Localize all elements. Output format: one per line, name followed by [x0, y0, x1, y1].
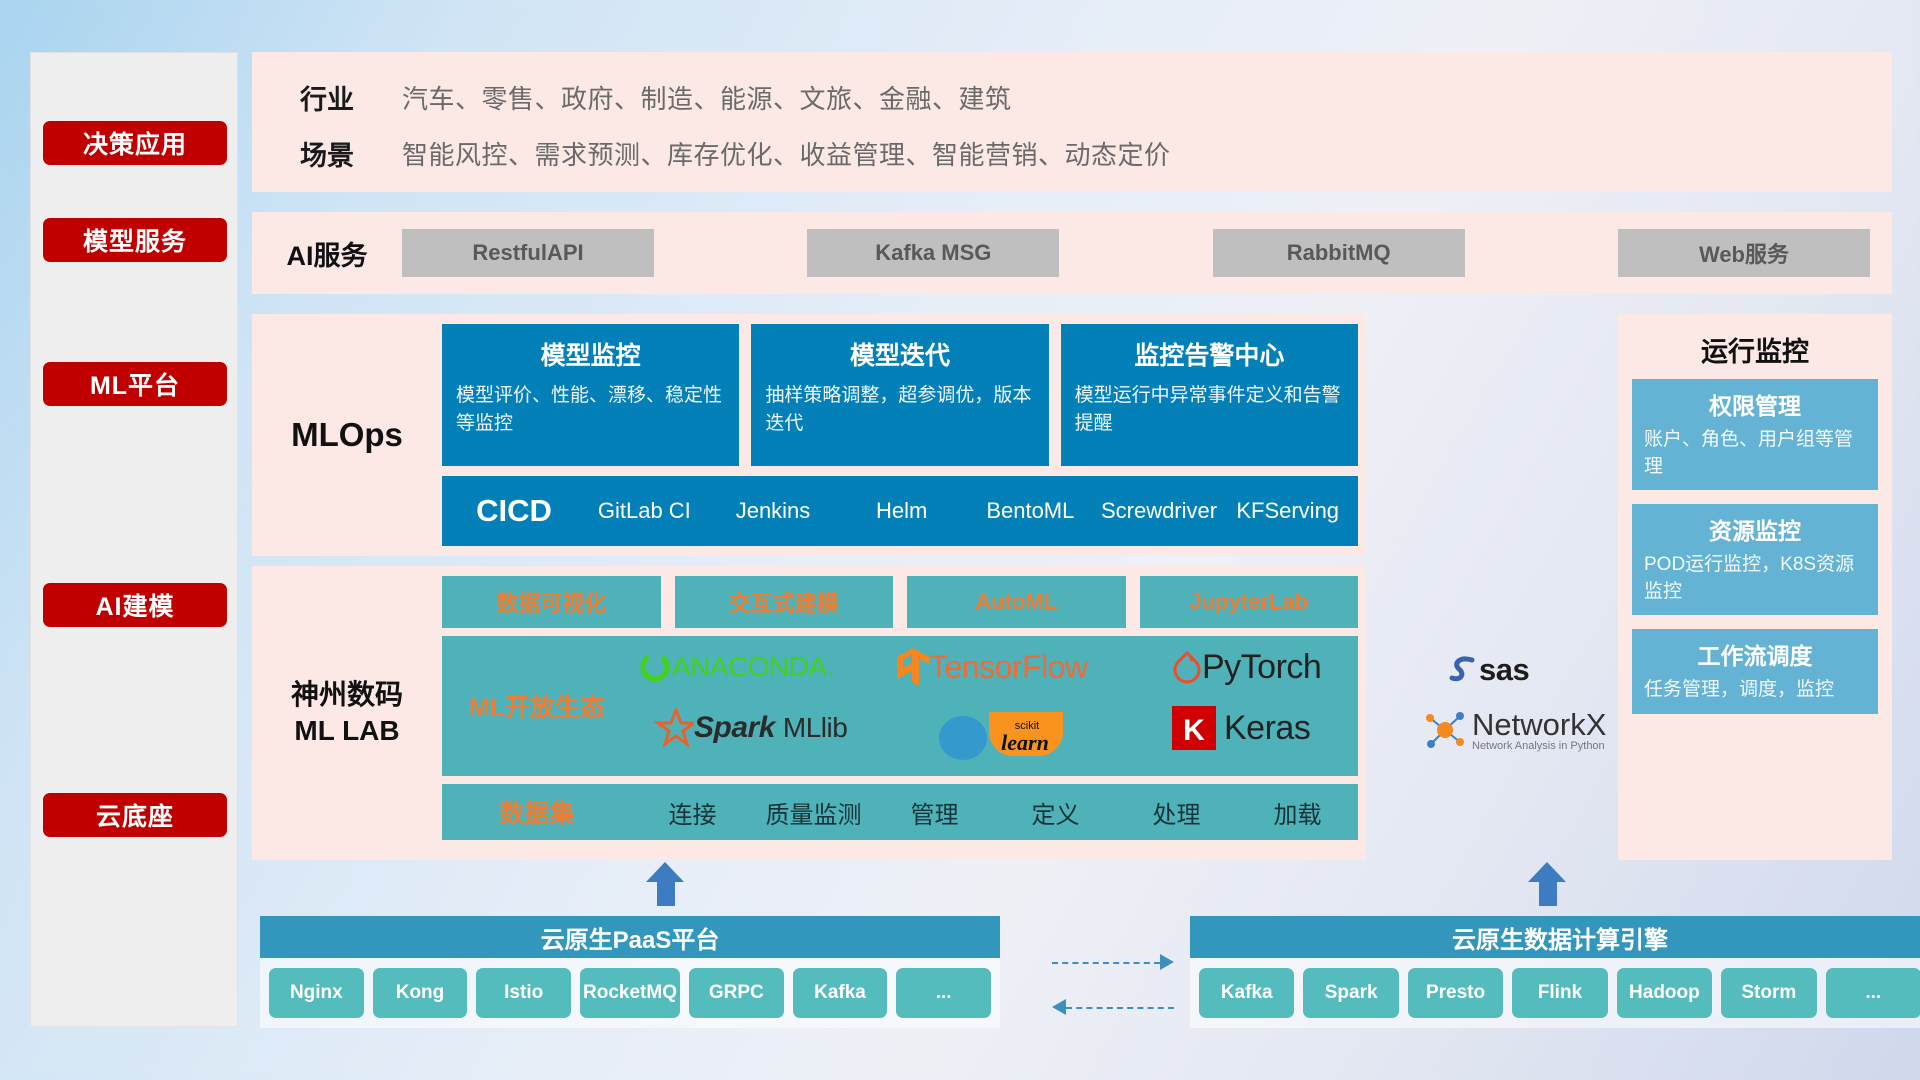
- tool-chip-interactive-modeling[interactable]: 交互式建模: [675, 576, 894, 628]
- ai-service-band: AI服务 RestfulAPI Kafka MSG RabbitMQ Web服务: [252, 212, 1892, 294]
- monitor-card-permissions[interactable]: 权限管理 账户、角色、用户组等管理: [1632, 379, 1878, 490]
- dataset-row: 数据集 连接 质量监测 管理 定义 处理 加载: [442, 784, 1358, 840]
- networkx-logo-tagline: Network Analysis in Python: [1472, 740, 1606, 752]
- anaconda-icon: [638, 650, 672, 684]
- card-desc: 模型评价、性能、漂移、稳定性等监控: [456, 382, 725, 437]
- keras-logo-text: Keras: [1224, 709, 1310, 748]
- rail-label: 决策应用: [83, 125, 187, 161]
- scikit-learn-icon: scikit learn: [937, 708, 1067, 760]
- cloud-chip-istio[interactable]: Istio: [476, 968, 571, 1018]
- ai-service-chip-restfulapi[interactable]: RestfulAPI: [402, 229, 654, 277]
- cloud-chip-nginx[interactable]: Nginx: [269, 968, 364, 1018]
- cicd-item-helm[interactable]: Helm: [837, 499, 966, 522]
- mlops-card-model-iteration[interactable]: 模型迭代 抽样策略调整，超参调优，版本迭代: [751, 324, 1048, 466]
- mllib-logo-text: MLlib: [783, 712, 847, 744]
- rail-item-ai-modeling[interactable]: AI建模: [43, 583, 227, 627]
- cloud-paas-title: 云原生PaaS平台: [260, 916, 1000, 958]
- cicd-item-bentoml[interactable]: BentoML: [966, 499, 1095, 522]
- ai-service-chip-kafka-msg[interactable]: Kafka MSG: [807, 229, 1059, 277]
- ai-service-chip-web-service[interactable]: Web服务: [1618, 229, 1870, 277]
- card-desc: 账户、角色、用户组等管理: [1644, 427, 1866, 480]
- layer-rail: 决策应用 模型服务 ML平台 AI建模 云底座: [30, 52, 238, 1027]
- tool-chip-data-visualization[interactable]: 数据可视化: [442, 576, 661, 628]
- cloud-chip-kafka[interactable]: Kafka: [793, 968, 888, 1018]
- card-title: 资源监控: [1644, 512, 1866, 546]
- dataset-item-load[interactable]: 加载: [1237, 795, 1358, 830]
- ml-ecosystem-row: ML开放生态 ANACONDA. TensorFlow: [442, 636, 1358, 776]
- data-chip-hadoop[interactable]: Hadoop: [1617, 968, 1712, 1018]
- tool-chip-automl[interactable]: AutoML: [907, 576, 1126, 628]
- ml-ecosystem-title: ML开放生态: [442, 688, 632, 724]
- cloud-data-engine-title: 云原生数据计算引擎: [1190, 916, 1920, 958]
- tensorflow-icon: [897, 648, 929, 686]
- industry-row: 行业 汽车、零售、政府、制造、能源、文旅、金融、建筑: [252, 78, 1892, 117]
- card-title: 权限管理: [1644, 387, 1866, 421]
- ai-service-items: RestfulAPI Kafka MSG RabbitMQ Web服务: [402, 229, 1892, 277]
- svg-text:learn: learn: [1001, 730, 1049, 755]
- ml-lab-label: 神州数码 ML LAB: [252, 566, 442, 860]
- dataset-item-process[interactable]: 处理: [1116, 795, 1237, 830]
- cicd-item-kfserving[interactable]: KFServing: [1223, 499, 1352, 522]
- cloud-paas-block: 云原生PaaS平台 Nginx Kong Istio RocketMQ GRPC…: [260, 916, 1000, 1028]
- data-chip-more[interactable]: ...: [1826, 968, 1920, 1018]
- cicd-bar: CICD GitLab CI Jenkins Helm BentoML Scre…: [442, 476, 1358, 546]
- networkx-logo: NetworkX Network Analysis in Python: [1422, 708, 1606, 752]
- svg-text:K: K: [1183, 714, 1205, 747]
- industry-label: 行业: [252, 78, 402, 117]
- keras-logo: K Keras: [1172, 706, 1310, 750]
- networkx-icon: [1422, 708, 1468, 752]
- dataset-title: 数据集: [442, 794, 632, 830]
- scikit-learn-logo: scikit learn: [937, 708, 1067, 760]
- sas-logo: sas: [1447, 652, 1529, 688]
- ml-lab-label-line1: 神州数码: [291, 677, 403, 713]
- rail-label: 云底座: [96, 797, 174, 833]
- scenario-values: 智能风控、需求预测、库存优化、收益管理、智能营销、动态定价: [402, 135, 1171, 172]
- cicd-item-gitlab-ci[interactable]: GitLab CI: [580, 499, 709, 522]
- rail-label: ML平台: [90, 366, 180, 402]
- mlops-card-list: 模型监控 模型评价、性能、漂移、稳定性等监控 模型迭代 抽样策略调整，超参调优，…: [442, 324, 1358, 466]
- rail-item-model-service[interactable]: 模型服务: [43, 218, 227, 262]
- ml-ecosystem-logos: ANACONDA. TensorFlow: [632, 636, 1358, 776]
- dataset-item-define[interactable]: 定义: [995, 795, 1116, 830]
- ml-lab-label-line2: ML LAB: [294, 713, 399, 749]
- spark-mllib-logo: Spark MLlib: [650, 708, 847, 748]
- cicd-item-screwdriver[interactable]: Screwdriver: [1095, 499, 1224, 522]
- rail-label: 模型服务: [83, 222, 187, 258]
- rail-label: AI建模: [95, 587, 174, 623]
- pytorch-icon: [1172, 650, 1202, 686]
- ai-service-label: AI服务: [252, 234, 402, 273]
- card-title: 模型监控: [456, 336, 725, 372]
- cloud-data-engine-chips: Kafka Spark Presto Flink Hadoop Storm ..…: [1190, 958, 1920, 1028]
- cloud-paas-chips: Nginx Kong Istio RocketMQ GRPC Kafka ...: [260, 958, 1000, 1028]
- sas-logo-text: sas: [1479, 652, 1529, 688]
- ml-platform-band: MLOps 模型监控 模型评价、性能、漂移、稳定性等监控 模型迭代 抽样策略调整…: [252, 314, 1366, 556]
- card-title: 工作流调度: [1644, 637, 1866, 671]
- cloud-data-engine-block: 云原生数据计算引擎 Kafka Spark Presto Flink Hadoo…: [1190, 916, 1920, 1028]
- tensorflow-logo: TensorFlow: [897, 648, 1088, 686]
- mlops-card-alert-center[interactable]: 监控告警中心 模型运行中异常事件定义和告警提醒: [1061, 324, 1358, 466]
- data-chip-flink[interactable]: Flink: [1512, 968, 1607, 1018]
- data-chip-spark[interactable]: Spark: [1303, 968, 1398, 1018]
- data-chip-kafka[interactable]: Kafka: [1199, 968, 1294, 1018]
- spark-logo-text: Spark: [694, 711, 775, 745]
- card-title: 监控告警中心: [1075, 336, 1344, 372]
- dataset-item-manage[interactable]: 管理: [874, 795, 995, 830]
- decision-applications-band: 行业 汽车、零售、政府、制造、能源、文旅、金融、建筑 场景 智能风控、需求预测、…: [252, 52, 1892, 192]
- anaconda-logo: ANACONDA.: [638, 650, 834, 684]
- data-chip-presto[interactable]: Presto: [1408, 968, 1503, 1018]
- cicd-title: CICD: [448, 493, 580, 529]
- tensorflow-logo-text: TensorFlow: [929, 649, 1088, 686]
- card-desc: POD运行监控，K8S资源监控: [1644, 552, 1866, 605]
- data-chip-storm[interactable]: Storm: [1721, 968, 1816, 1018]
- anaconda-logo-text: ANACONDA.: [672, 651, 834, 683]
- keras-icon: K: [1172, 706, 1216, 750]
- runtime-monitoring-title: 运行监控: [1618, 314, 1892, 379]
- cloud-chip-kong[interactable]: Kong: [373, 968, 468, 1018]
- ai-modeling-band: 神州数码 ML LAB 数据可视化 交互式建模 AutoML JupyterLa…: [252, 566, 1366, 860]
- scenario-label: 场景: [252, 134, 402, 173]
- cloud-chip-rocketmq[interactable]: RocketMQ: [580, 968, 680, 1018]
- cloud-chip-grpc[interactable]: GRPC: [689, 968, 784, 1018]
- card-title: 模型迭代: [765, 336, 1034, 372]
- rail-item-ml-platform[interactable]: ML平台: [43, 362, 227, 406]
- sas-icon: [1447, 654, 1479, 686]
- dataset-item-connect[interactable]: 连接: [632, 795, 753, 830]
- pytorch-logo: PyTorch: [1172, 648, 1321, 687]
- card-desc: 抽样策略调整，超参调优，版本迭代: [765, 382, 1034, 437]
- pytorch-logo-text: PyTorch: [1202, 648, 1321, 687]
- dataset-item-quality[interactable]: 质量监测: [753, 795, 874, 830]
- cicd-item-jenkins[interactable]: Jenkins: [709, 499, 838, 522]
- mlops-label: MLOps: [252, 314, 442, 556]
- networkx-logo-text: NetworkX: [1472, 709, 1606, 740]
- mlops-card-model-monitoring[interactable]: 模型监控 模型评价、性能、漂移、稳定性等监控: [442, 324, 739, 466]
- scenario-row: 场景 智能风控、需求预测、库存优化、收益管理、智能营销、动态定价: [252, 134, 1892, 173]
- monitor-card-resources[interactable]: 资源监控 POD运行监控，K8S资源监控: [1632, 504, 1878, 615]
- monitor-card-workflow[interactable]: 工作流调度 任务管理，调度，监控: [1632, 629, 1878, 714]
- tool-chip-jupyterlab[interactable]: JupyterLab: [1140, 576, 1359, 628]
- industry-values: 汽车、零售、政府、制造、能源、文旅、金融、建筑: [402, 79, 1012, 116]
- rail-item-cloud-base[interactable]: 云底座: [43, 793, 227, 837]
- cloud-chip-more[interactable]: ...: [896, 968, 991, 1018]
- spark-star-icon: [650, 708, 694, 748]
- runtime-monitoring-band: 运行监控 权限管理 账户、角色、用户组等管理 资源监控 POD运行监控，K8S资…: [1618, 314, 1892, 860]
- rail-item-decision-apps[interactable]: 决策应用: [43, 121, 227, 165]
- ml-lab-tools: 数据可视化 交互式建模 AutoML JupyterLab: [442, 576, 1358, 628]
- card-desc: 模型运行中异常事件定义和告警提醒: [1075, 382, 1344, 437]
- ai-service-chip-rabbitmq[interactable]: RabbitMQ: [1213, 229, 1465, 277]
- card-desc: 任务管理，调度，监控: [1644, 677, 1866, 704]
